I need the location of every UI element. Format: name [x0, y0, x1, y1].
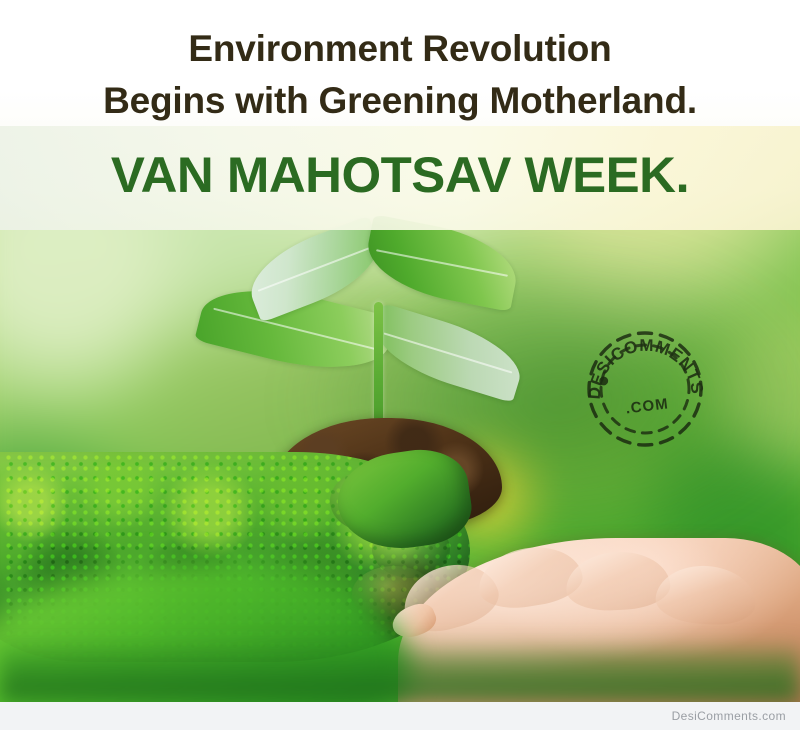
- poster-canvas: Environment Revolution Begins with Green…: [0, 0, 800, 730]
- leaf-vein: [384, 333, 512, 374]
- headline-line-3: VAN MAHOTSAV WEEK.: [0, 124, 800, 203]
- footer-bar: DesiComments.com: [0, 702, 800, 730]
- leaf-vein: [214, 308, 377, 350]
- headline-line-2: Begins with Greening Motherland.: [0, 72, 800, 124]
- watermark-brand-text: DESICOMMENTS: [578, 329, 707, 409]
- desicomments-watermark-stamp: DESICOMMENTS .COM: [576, 320, 714, 458]
- leaf-mid-right: [367, 303, 529, 403]
- leaf-vein: [258, 247, 372, 292]
- svg-text:DESICOMMENTS: DESICOMMENTS: [578, 329, 707, 409]
- bottom-foliage-band: [0, 640, 800, 702]
- watermark-suffix-text: .COM: [625, 395, 670, 417]
- leaf-vein: [376, 250, 508, 277]
- headline-line-1: Environment Revolution: [0, 0, 800, 72]
- headline-block: Environment Revolution Begins with Green…: [0, 0, 800, 232]
- footer-credit: DesiComments.com: [672, 709, 786, 723]
